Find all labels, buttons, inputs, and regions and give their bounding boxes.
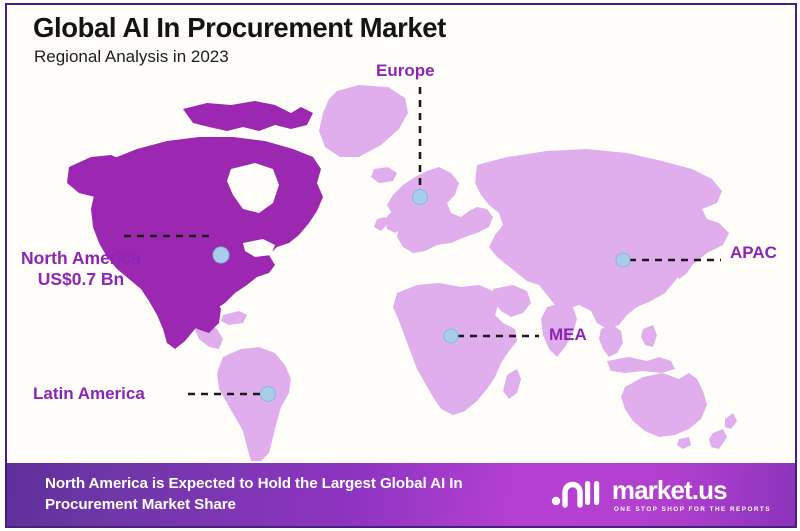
region-madagascar <box>503 369 521 399</box>
logo-tagline: ONE STOP SHOP FOR THE REPORTS <box>614 506 771 513</box>
brand-logo[interactable]: market.us ONE STOP SHOP FOR THE REPORTS <box>551 475 771 514</box>
region-label-apac-text: APAC <box>730 243 777 262</box>
region-australia <box>621 373 707 437</box>
region-new-zealand-south <box>709 429 727 449</box>
region-label-north-america-text: North America <box>21 248 141 269</box>
region-label-europe-text: Europe <box>376 61 435 80</box>
logo-mark-svg <box>551 475 605 509</box>
region-philippines <box>641 325 657 347</box>
region-label-apac: APAC <box>730 243 777 263</box>
region-label-mea: MEA <box>549 325 587 345</box>
region-ireland <box>374 217 387 231</box>
region-label-north-america: North America US$0.7 Bn <box>21 248 141 289</box>
region-label-mea-text: MEA <box>549 325 587 344</box>
banner-headline: North America is Expected to Hold the La… <box>45 474 551 514</box>
region-middle-east <box>493 285 531 317</box>
region-label-latin-america-text: Latin America <box>33 384 145 403</box>
region-value-north-america: US$0.7 Bn <box>21 269 141 290</box>
region-label-europe: Europe <box>376 61 435 81</box>
region-sea <box>599 325 623 357</box>
infographic-canvas: Global AI In Procurement Market Regional… <box>7 5 795 526</box>
logo-text: market.us ONE STOP SHOP FOR THE REPORTS <box>612 477 771 513</box>
infographic-card: Global AI In Procurement Market Regional… <box>0 0 800 531</box>
logo-wordmark: market.us <box>612 477 771 503</box>
map-highlighted-region <box>67 101 323 349</box>
region-indonesia <box>607 357 675 373</box>
region-greenland <box>319 85 408 157</box>
region-tasmania <box>677 437 691 449</box>
region-label-latin-america: Latin America <box>33 384 145 404</box>
region-south-america <box>217 347 291 461</box>
region-canada-arctic <box>183 101 313 131</box>
region-caribbean <box>221 311 247 325</box>
market-us-logo-icon <box>551 475 605 514</box>
page-title: Global AI In Procurement Market <box>33 12 446 44</box>
region-iceland <box>371 167 397 183</box>
region-new-zealand <box>725 413 737 429</box>
footer-banner: North America is Expected to Hold the La… <box>7 463 795 526</box>
